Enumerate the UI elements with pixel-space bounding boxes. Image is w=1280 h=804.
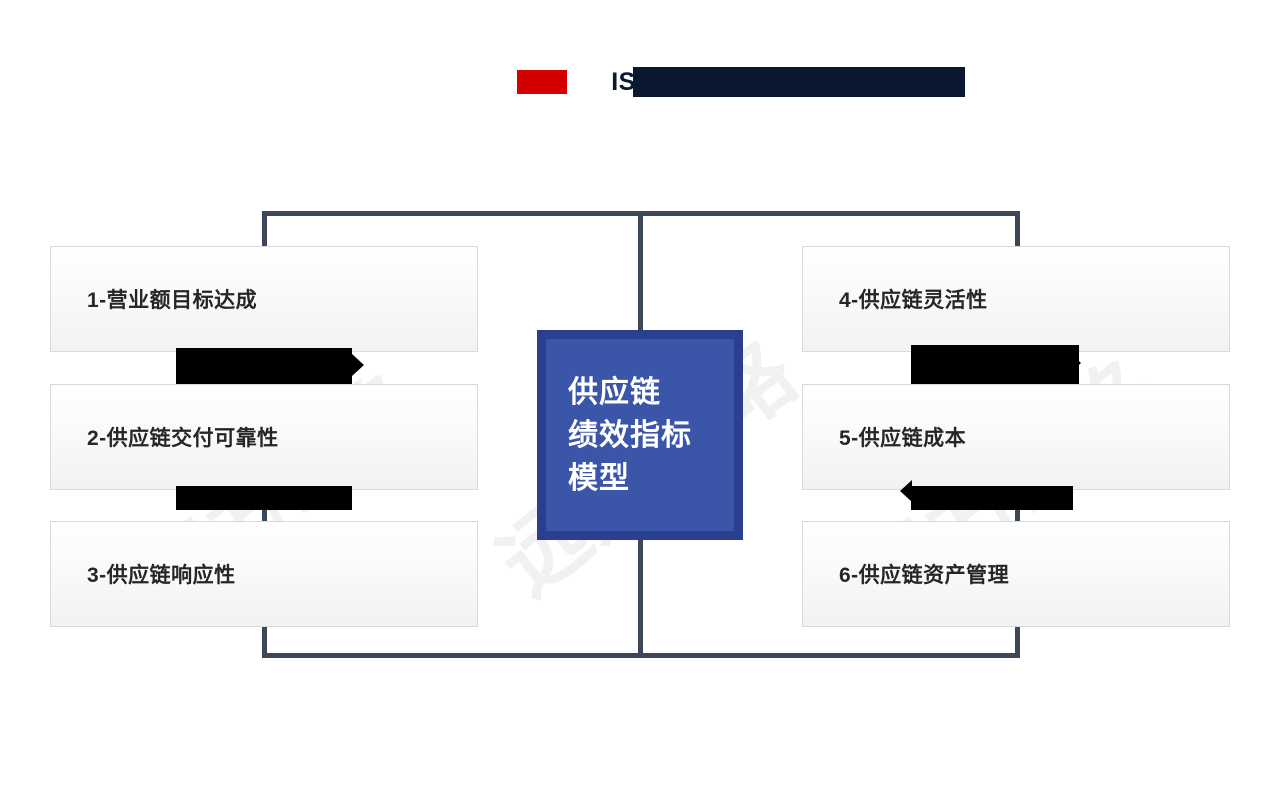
metric-card-2-label: 2-供应链交付可靠性 bbox=[51, 422, 279, 452]
metric-card-6[interactable]: 6-供应链资产管理 bbox=[802, 521, 1230, 627]
center-model-box[interactable]: 供应链 绩效指标 模型 bbox=[537, 330, 743, 540]
title-redaction-bar bbox=[633, 67, 965, 97]
redaction-arrow-left-1 bbox=[352, 354, 364, 376]
title-left-accent-dash bbox=[517, 70, 567, 94]
redaction-bar-right-2 bbox=[911, 486, 1073, 510]
redaction-arrow-right-1 bbox=[1069, 352, 1081, 374]
metric-card-6-label: 6-供应链资产管理 bbox=[803, 559, 1009, 589]
center-model-box-inner: 供应链 绩效指标 模型 bbox=[546, 339, 734, 531]
metric-card-5[interactable]: 5-供应链成本 bbox=[802, 384, 1230, 490]
center-model-line-3: 模型 bbox=[568, 457, 630, 500]
metric-card-3-label: 3-供应链响应性 bbox=[51, 559, 236, 589]
redaction-bar-left-2 bbox=[176, 486, 352, 510]
redaction-arrow-right-2 bbox=[900, 480, 912, 502]
metric-card-3[interactable]: 3-供应链响应性 bbox=[50, 521, 478, 627]
metric-card-1-label: 1-营业额目标达成 bbox=[51, 284, 257, 314]
metric-card-2[interactable]: 2-供应链交付可靠性 bbox=[50, 384, 478, 490]
metric-card-5-label: 5-供应链成本 bbox=[803, 422, 966, 452]
metric-card-1[interactable]: 1-营业额目标达成 bbox=[50, 246, 478, 352]
center-model-line-2: 绩效指标 bbox=[568, 414, 692, 457]
redaction-bar-right-1 bbox=[911, 345, 1079, 384]
metric-card-4[interactable]: 4-供应链灵活性 bbox=[802, 246, 1230, 352]
center-model-line-1: 供应链 bbox=[568, 371, 661, 414]
redaction-bar-left-1 bbox=[176, 348, 352, 384]
slide-canvas: 远方战略 远方战略 远方战略 IS 系 1-营业额目标达成 2-供应链交付可靠性… bbox=[0, 0, 1280, 804]
title-text-holder: IS 系 bbox=[611, 64, 669, 100]
slide-title-bar: IS 系 bbox=[0, 62, 1280, 102]
metric-card-4-label: 4-供应链灵活性 bbox=[803, 284, 988, 314]
